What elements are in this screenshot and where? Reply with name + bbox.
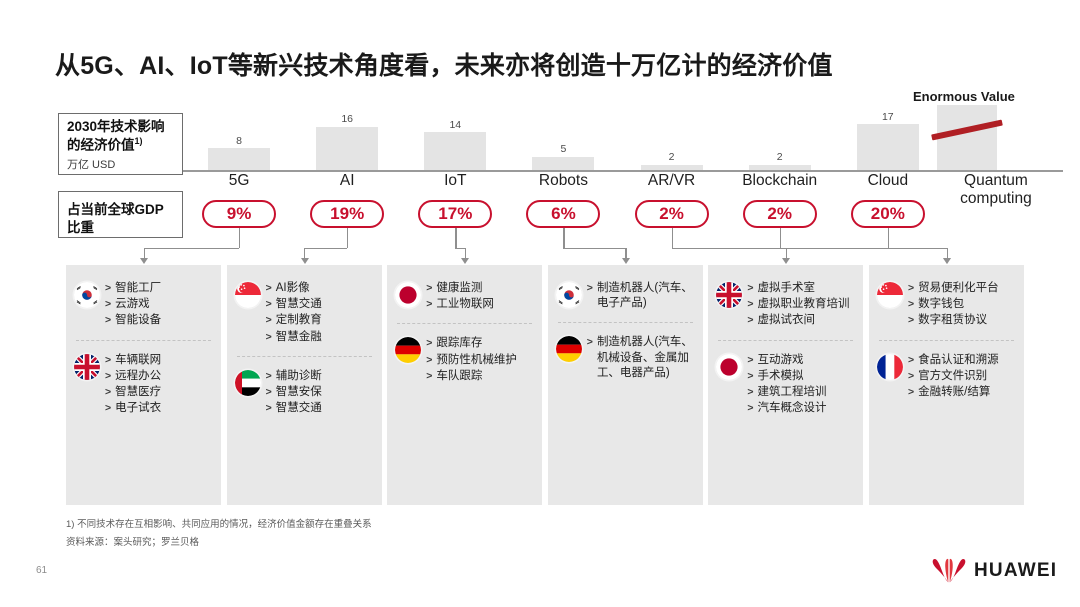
connector-arrow	[140, 258, 148, 264]
connector-segment	[947, 248, 948, 258]
list-item-label: 智慧交通	[276, 401, 374, 416]
bar	[857, 124, 919, 170]
chevron-right-icon: >	[105, 401, 111, 416]
united-kingdom-flag	[74, 354, 100, 380]
connector-segment	[672, 248, 786, 249]
category-label-quantum-computing: Quantum computing	[942, 172, 1050, 208]
economic-value-label-box: 2030年技术影响的经济价值1) 万亿 USD	[58, 113, 183, 175]
connector-segment	[780, 228, 781, 248]
connector-segment	[888, 228, 889, 248]
page-number: 61	[36, 565, 47, 576]
list-item-label: 手术模拟	[758, 369, 856, 384]
list-item: > 制造机器人(汽车、机械设备、金属加工、电器产品)	[587, 335, 695, 381]
chevron-right-icon: >	[105, 313, 111, 328]
list-item-label: 车辆联网	[115, 353, 213, 368]
bar-value-label: 17	[882, 112, 894, 123]
connector-segment	[672, 228, 673, 248]
country-group: > 虚拟手术室 > 虚拟职业教育培训 > 虚拟试衣间	[716, 281, 855, 330]
list-item: > 车队跟踪	[426, 369, 534, 384]
bar-column: 8	[208, 136, 270, 170]
chevron-right-icon: >	[426, 369, 432, 384]
chevron-right-icon: >	[747, 401, 753, 416]
bar-column: 14	[424, 120, 486, 170]
bar-value-label: 2	[669, 152, 675, 163]
list-item-label: 智能工厂	[115, 281, 213, 296]
connector-arrow	[782, 258, 790, 264]
chevron-right-icon: >	[266, 281, 272, 296]
gdp-share-label-box: 占当前全球GDP比重	[58, 191, 183, 238]
chevron-right-icon: >	[908, 313, 914, 328]
chevron-right-icon: >	[266, 330, 272, 345]
chevron-right-icon: >	[266, 313, 272, 328]
chevron-right-icon: >	[426, 336, 432, 351]
category-label-ai: AI	[293, 172, 401, 190]
list-item-label: 智慧交通	[276, 297, 374, 312]
japan-flag	[395, 282, 421, 308]
chevron-right-icon: >	[908, 353, 914, 368]
gdp-share-badge-iot: 17%	[418, 200, 492, 228]
singapore-flag	[235, 282, 261, 308]
connector-segment	[563, 228, 564, 248]
chevron-right-icon: >	[908, 281, 914, 296]
connector-segment	[304, 248, 347, 249]
use-case-box-ar-vr: > 虚拟手术室 > 虚拟职业教育培训 > 虚拟试衣间 > 互动游戏	[708, 265, 863, 505]
gdp-share-badge-5g: 9%	[202, 200, 276, 228]
connector-segment	[144, 248, 145, 258]
bar-value-label: 14	[449, 120, 461, 131]
chevron-right-icon: >	[105, 385, 111, 400]
list-item-label: 建筑工程培训	[758, 385, 856, 400]
use-case-box-iot: > 健康监测 > 工业物联网 > 跟踪库存 >	[387, 265, 542, 505]
page-title: 从5G、AI、IoT等新兴技术角度看，未来亦将创造十万亿计的经济价值	[55, 46, 833, 82]
category-label-5g: 5G	[185, 172, 293, 190]
connector-segment	[304, 248, 305, 258]
chevron-right-icon: >	[426, 281, 432, 296]
connector-arrow	[301, 258, 309, 264]
country-group: > 跟踪库存 > 预防性机械维护 > 车队跟踪	[395, 336, 534, 385]
list-item: > 定制教育	[266, 313, 374, 328]
enormous-value-annotation: Enormous Value	[913, 89, 1015, 104]
list-item-label: 官方文件识别	[918, 369, 1016, 384]
use-case-list: > 贸易便利化平台 > 数字钱包 > 数字租赁协议	[908, 281, 1016, 330]
gdp-share-badge-blockchain: 2%	[743, 200, 817, 228]
japan-flag	[716, 354, 742, 380]
connector-segment	[239, 228, 240, 248]
economic-value-unit: 万亿 USD	[67, 156, 174, 172]
economic-value-label-text: 2030年技术影响的经济价值	[67, 119, 165, 152]
list-item: > 车辆联网	[105, 353, 213, 368]
chevron-right-icon: >	[426, 297, 432, 312]
country-group: > 健康监测 > 工业物联网	[395, 281, 534, 313]
country-group: > AI影像 > 智慧交通 > 定制教育 > 智慧金融	[235, 281, 374, 346]
gdp-share-badge-ai: 19%	[310, 200, 384, 228]
list-item: > 虚拟手术室	[747, 281, 855, 296]
slide: 从5G、AI、IoT等新兴技术角度看，未来亦将创造十万亿计的经济价值 2030年…	[0, 0, 1080, 607]
list-item-label: AI影像	[276, 281, 374, 296]
list-item: > 远程办公	[105, 369, 213, 384]
list-item: > 手术模拟	[747, 369, 855, 384]
use-case-list: > 车辆联网 > 远程办公 > 智慧医疗 > 电子试衣	[105, 353, 213, 418]
list-item-label: 数字租赁协议	[918, 313, 1016, 328]
list-item-label: 远程办公	[115, 369, 213, 384]
list-item-label: 智慧医疗	[115, 385, 213, 400]
chevron-right-icon: >	[747, 297, 753, 312]
list-item: > 跟踪库存	[426, 336, 534, 351]
country-group: > 制造机器人(汽车、电子产品)	[556, 281, 695, 312]
connector-arrow	[622, 258, 630, 264]
chevron-right-icon: >	[908, 297, 914, 312]
list-item: > 辅助诊断	[266, 369, 374, 384]
gdp-share-badge-ar-vr: 2%	[635, 200, 709, 228]
economic-value-label: 2030年技术影响的经济价值1)	[67, 119, 174, 154]
bar	[532, 157, 594, 171]
use-case-list: > 互动游戏 > 手术模拟 > 建筑工程培训 > 汽车概念设计	[747, 353, 855, 418]
connector-segment	[144, 248, 240, 249]
chevron-right-icon: >	[747, 313, 753, 328]
list-item: > 智能工厂	[105, 281, 213, 296]
france-flag	[877, 354, 903, 380]
list-item: > 智慧医疗	[105, 385, 213, 400]
bar	[424, 132, 486, 170]
category-label-ar-vr: AR/VR	[618, 172, 726, 190]
list-item-label: 虚拟手术室	[758, 281, 856, 296]
category-label-blockchain: Blockchain	[726, 172, 834, 190]
list-item: > 官方文件识别	[908, 369, 1016, 384]
list-item-label: 车队跟踪	[436, 369, 534, 384]
list-item: > 汽车概念设计	[747, 401, 855, 416]
chevron-right-icon: >	[587, 335, 593, 381]
list-item: > 金融转账/结算	[908, 385, 1016, 400]
use-case-list: > 辅助诊断 > 智慧安保 > 智慧交通	[266, 369, 374, 418]
group-divider	[879, 340, 1014, 341]
group-divider	[237, 356, 372, 357]
chevron-right-icon: >	[266, 369, 272, 384]
south-korea-flag	[74, 282, 100, 308]
category-label-cloud: Cloud	[834, 172, 942, 190]
list-item-label: 工业物联网	[436, 297, 534, 312]
chevron-right-icon: >	[105, 353, 111, 368]
chevron-right-icon: >	[105, 281, 111, 296]
list-item-label: 虚拟职业教育培训	[758, 297, 856, 312]
country-group: > 车辆联网 > 远程办公 > 智慧医疗 > 电子试衣	[74, 353, 213, 418]
connector-segment	[455, 248, 464, 249]
chevron-right-icon: >	[266, 297, 272, 312]
country-group: > 智能工厂 > 云游戏 > 智能设备	[74, 281, 213, 330]
list-item: > 互动游戏	[747, 353, 855, 368]
chevron-right-icon: >	[747, 353, 753, 368]
use-case-box-blockchain: > 贸易便利化平台 > 数字钱包 > 数字租赁协议	[869, 265, 1024, 505]
list-item-label: 定制教育	[276, 313, 374, 328]
list-item: > 电子试衣	[105, 401, 213, 416]
use-case-box-ai: > AI影像 > 智慧交通 > 定制教育 > 智慧金融	[227, 265, 382, 505]
list-item: > 贸易便利化平台	[908, 281, 1016, 296]
list-item: > 制造机器人(汽车、电子产品)	[587, 281, 695, 311]
huawei-wordmark: HUAWEI	[974, 560, 1057, 582]
south-korea-flag	[556, 282, 582, 308]
chevron-right-icon: >	[747, 385, 753, 400]
connector-segment	[888, 248, 947, 249]
use-case-box-robots: > 制造机器人(汽车、电子产品) > 制造机器人(汽车、机械设备、金属加工、电器…	[548, 265, 703, 505]
chevron-right-icon: >	[908, 369, 914, 384]
connector-segment	[786, 248, 787, 258]
connector-arrow	[461, 258, 469, 264]
list-item-label: 数字钱包	[918, 297, 1016, 312]
list-item: > 云游戏	[105, 297, 213, 312]
chevron-right-icon: >	[587, 281, 593, 311]
connector-segment	[347, 228, 348, 248]
list-item-label: 云游戏	[115, 297, 213, 312]
list-item: > 虚拟职业教育培训	[747, 297, 855, 312]
use-case-box-5g: > 智能工厂 > 云游戏 > 智能设备	[66, 265, 221, 505]
bar-value-label: 8	[236, 136, 242, 147]
country-group: > 食品认证和溯源 > 官方文件识别 > 金融转账/结算	[877, 353, 1016, 402]
use-case-list: > 制造机器人(汽车、电子产品)	[587, 281, 695, 312]
bar-chart: 8161452217	[185, 108, 1050, 170]
list-item-label: 智慧安保	[276, 385, 374, 400]
germany-flag	[395, 337, 421, 363]
group-divider	[76, 340, 211, 341]
gdp-share-label: 占当前全球GDP比重	[67, 197, 174, 236]
list-item-label: 金融转账/结算	[918, 385, 1016, 400]
chevron-right-icon: >	[747, 369, 753, 384]
germany-flag	[556, 336, 582, 362]
list-item: > 建筑工程培训	[747, 385, 855, 400]
connector-segment	[625, 248, 626, 258]
bar-column: 5	[532, 144, 594, 170]
united-kingdom-flag	[716, 282, 742, 308]
country-group: > 贸易便利化平台 > 数字钱包 > 数字租赁协议	[877, 281, 1016, 330]
connector-segment	[455, 228, 456, 248]
list-item-label: 虚拟试衣间	[758, 313, 856, 328]
list-item: > 预防性机械维护	[426, 353, 534, 368]
bar-column: 2	[641, 152, 703, 170]
list-item-label: 预防性机械维护	[436, 353, 534, 368]
list-item: > 数字钱包	[908, 297, 1016, 312]
list-item-label: 辅助诊断	[276, 369, 374, 384]
list-item-label: 汽车概念设计	[758, 401, 856, 416]
chevron-right-icon: >	[266, 385, 272, 400]
chevron-right-icon: >	[105, 297, 111, 312]
category-label-robots: Robots	[509, 172, 617, 190]
chevron-right-icon: >	[266, 401, 272, 416]
use-case-list: > 食品认证和溯源 > 官方文件识别 > 金融转账/结算	[908, 353, 1016, 402]
group-divider	[718, 340, 853, 341]
use-case-list: > 智能工厂 > 云游戏 > 智能设备	[105, 281, 213, 330]
gdp-share-badge-cloud: 20%	[851, 200, 925, 228]
country-group: > 辅助诊断 > 智慧安保 > 智慧交通	[235, 369, 374, 418]
group-divider	[397, 323, 532, 324]
bar-value-label: 2	[777, 152, 783, 163]
bar-value-label: 5	[561, 144, 567, 155]
list-item: > 智能设备	[105, 313, 213, 328]
list-item: > AI影像	[266, 281, 374, 296]
list-item-label: 互动游戏	[758, 353, 856, 368]
use-case-list: > 跟踪库存 > 预防性机械维护 > 车队跟踪	[426, 336, 534, 385]
list-item-label: 制造机器人(汽车、电子产品)	[597, 281, 695, 311]
gdp-share-badge-robots: 6%	[526, 200, 600, 228]
list-item: > 健康监测	[426, 281, 534, 296]
bar	[316, 127, 378, 170]
group-divider	[558, 322, 693, 323]
chevron-right-icon: >	[747, 281, 753, 296]
list-item: > 智慧金融	[266, 330, 374, 345]
list-item: > 智慧安保	[266, 385, 374, 400]
bar-column: 2	[749, 152, 811, 170]
singapore-flag	[877, 282, 903, 308]
list-item-label: 智能设备	[115, 313, 213, 328]
connector-arrow	[943, 258, 951, 264]
list-item: > 数字租赁协议	[908, 313, 1016, 328]
huawei-logo: HUAWEI	[931, 558, 1057, 584]
footnote-marker: 1)	[135, 136, 143, 146]
use-case-list: > 虚拟手术室 > 虚拟职业教育培训 > 虚拟试衣间	[747, 281, 855, 330]
list-item-label: 电子试衣	[115, 401, 213, 416]
connector-segment	[563, 248, 625, 249]
list-item-label: 健康监测	[436, 281, 534, 296]
list-item-label: 食品认证和溯源	[918, 353, 1016, 368]
huawei-flower-icon	[931, 558, 967, 584]
connector-segment	[465, 248, 466, 258]
country-group: > 互动游戏 > 手术模拟 > 建筑工程培训 > 汽车概念设计	[716, 353, 855, 418]
use-case-list: > AI影像 > 智慧交通 > 定制教育 > 智慧金融	[266, 281, 374, 346]
chevron-right-icon: >	[908, 385, 914, 400]
use-case-list: > 健康监测 > 工业物联网	[426, 281, 534, 313]
chevron-right-icon: >	[105, 369, 111, 384]
bar-value-label: 16	[341, 114, 353, 125]
uae-flag	[235, 370, 261, 396]
list-item: > 智慧交通	[266, 401, 374, 416]
footnote-1: 1) 不同技术存在互相影响、共同应用的情况，经济价值金额存在重叠关系	[66, 516, 372, 530]
footnote-source: 资料来源：案头研究；罗兰贝格	[66, 534, 199, 548]
bar	[208, 148, 270, 170]
category-label-iot: IoT	[401, 172, 509, 190]
list-item: > 智慧交通	[266, 297, 374, 312]
country-group: > 制造机器人(汽车、机械设备、金属加工、电器产品)	[556, 335, 695, 382]
bar-column: 17	[857, 112, 919, 170]
list-item: > 工业物联网	[426, 297, 534, 312]
list-item: > 食品认证和溯源	[908, 353, 1016, 368]
chevron-right-icon: >	[426, 353, 432, 368]
list-item-label: 智慧金融	[276, 330, 374, 345]
list-item: > 虚拟试衣间	[747, 313, 855, 328]
list-item-label: 贸易便利化平台	[918, 281, 1016, 296]
list-item-label: 跟踪库存	[436, 336, 534, 351]
use-case-list: > 制造机器人(汽车、机械设备、金属加工、电器产品)	[587, 335, 695, 382]
bar-column: 16	[316, 114, 378, 170]
list-item-label: 制造机器人(汽车、机械设备、金属加工、电器产品)	[597, 335, 695, 381]
